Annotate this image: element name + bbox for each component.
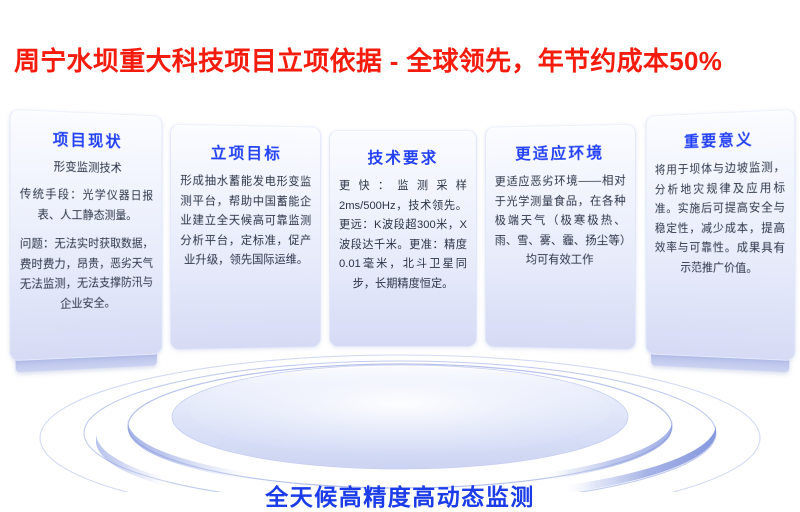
card-paragraph: 问题：无法实时获取数据，费时费力，昂贵，恶劣天气无法监测，无法支撑防汛与企业安全… <box>20 235 153 316</box>
card-heading: 项目现状 <box>20 129 153 153</box>
card-slot-3: 技术要求 更快：监测采样2ms/500Hz，技术领先。更远：K波段超300米，X… <box>329 130 477 347</box>
platform-banner-label: 全天候高精度高动态监测 <box>0 478 800 512</box>
card-slot-1: 项目现状 形变监测技术 传统手段：光学仪器日报表、人工静态测量。 问题：无法实时… <box>9 109 162 361</box>
card-heading: 立项目标 <box>180 143 311 164</box>
cards-stage: 项目现状 形变监测技术 传统手段：光学仪器日报表、人工静态测量。 问题：无法实时… <box>0 108 800 492</box>
card-project-goal[interactable]: 立项目标 形成抽水蓄能发电形变监测平台，帮助中国蓄能企业建立全天候高可靠监测分析… <box>170 124 321 350</box>
page-title: 周宁水坝重大科技项目立项依据 - 全球领先，年节约成本50% <box>14 40 786 82</box>
card-paragraph: 形成抽水蓄能发电形变监测平台，帮助中国蓄能企业建立全天候高可靠监测分析平台，定标… <box>180 172 311 271</box>
card-paragraph: 传统手段：光学仪器日报表、人工静态测量。 <box>20 185 153 226</box>
card-heading: 重要意义 <box>655 129 785 153</box>
card-project-status[interactable]: 项目现状 形变监测技术 传统手段：光学仪器日报表、人工静态测量。 问题：无法实时… <box>9 109 162 361</box>
card-slot-2: 立项目标 形成抽水蓄能发电形变监测平台，帮助中国蓄能企业建立全天候高可靠监测分析… <box>170 124 321 350</box>
card-slot-5: 重要意义 将用于坝体与边坡监测，分析地灾规律及应用标准。实施后可提高安全与稳定性… <box>645 109 795 361</box>
card-significance[interactable]: 重要意义 将用于坝体与边坡监测，分析地灾规律及应用标准。实施后可提高安全与稳定性… <box>645 109 795 361</box>
card-heading: 更适应环境 <box>495 143 626 164</box>
card-slot-4: 更适应环境 更适应恶劣环境——相对于光学测量食品，在各种极端天气（极寒极热、雨、… <box>485 124 636 350</box>
card-subtitle: 形变监测技术 <box>20 158 153 178</box>
card-paragraph: 更适应恶劣环境——相对于光学测量食品，在各种极端天气（极寒极热、雨、雪、雾、霾、… <box>495 172 626 271</box>
card-environment-adaptability[interactable]: 更适应环境 更适应恶劣环境——相对于光学测量食品，在各种极端天气（极寒极热、雨、… <box>485 124 636 350</box>
card-technical-requirements[interactable]: 技术要求 更快：监测采样2ms/500Hz，技术领先。更远：K波段超300米，X… <box>329 130 477 347</box>
card-paragraph: 将用于坝体与边坡监测，分析地灾规律及应用标准。实施后可提高安全与稳定性，减少成本… <box>655 158 785 279</box>
card-paragraph: 更快：监测采样2ms/500Hz，技术领先。更远：K波段超300米，X波段达千米… <box>339 177 467 294</box>
card-heading: 技术要求 <box>339 149 467 168</box>
